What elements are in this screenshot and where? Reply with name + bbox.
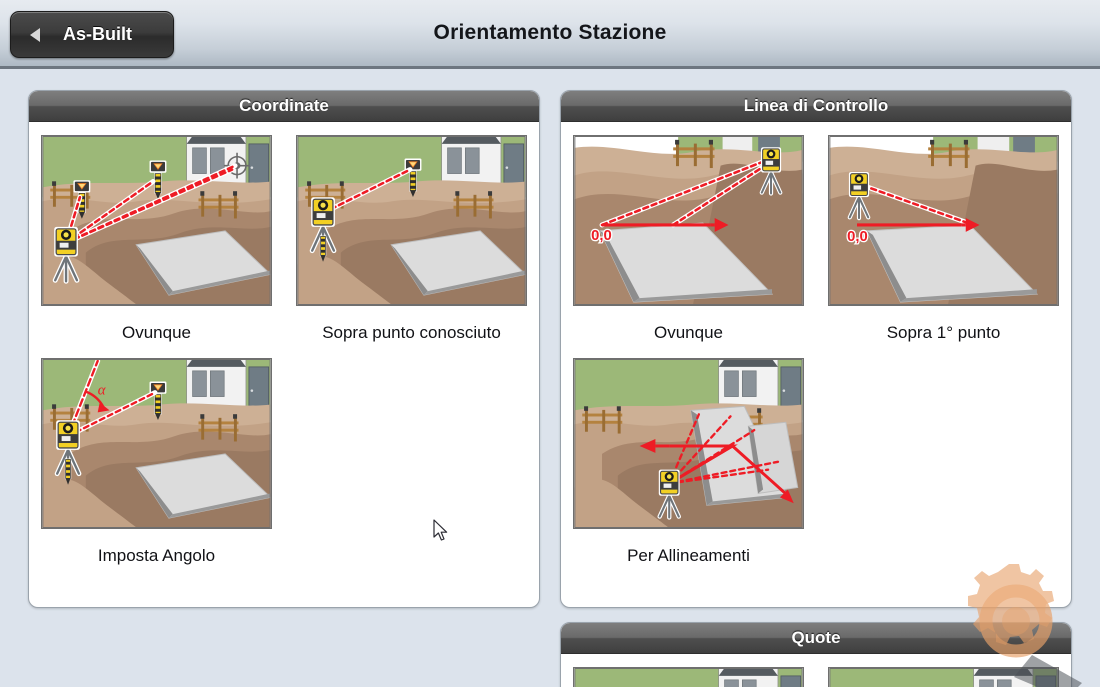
option-coordinate-imposta-angolo[interactable]: α — [29, 355, 284, 578]
option-label: Imposta Angolo — [29, 546, 284, 566]
option-linea-ovunque[interactable]: 0,0 Ovunque — [561, 132, 816, 355]
panel-linea-body: 0,0 Ovunque — [561, 122, 1071, 578]
panel-coordinate: Coordinate — [28, 90, 540, 608]
panel-quote-body — [561, 654, 1071, 687]
option-label: Sopra 1° punto — [816, 323, 1071, 343]
option-coordinate-sopra-punto-conosciuto[interactable]: Sopra punto conosciuto — [284, 132, 539, 355]
option-linea-sopra-primo-punto[interactable]: 0,0 Sopra 1° punto — [816, 132, 1071, 355]
thumbnail-control-line-alignments[interactable] — [573, 358, 804, 529]
back-button-label: As-Built — [40, 24, 155, 45]
panel-quote-title: Quote — [561, 623, 1071, 654]
option-quote-second[interactable] — [816, 664, 1071, 687]
option-label: Ovunque — [29, 323, 284, 343]
thumbnail-control-line-over-first-point[interactable]: 0,0 — [828, 135, 1059, 306]
empty-cell — [284, 355, 539, 578]
thumbnail-station-set-angle[interactable]: α — [41, 358, 272, 529]
thumbnail-quote-second[interactable] — [828, 667, 1059, 687]
option-label: Sopra punto conosciuto — [284, 323, 539, 343]
thumbnail-station-free-multi-prism[interactable] — [41, 135, 272, 306]
panel-quote: Quote — [560, 622, 1072, 687]
panel-coordinate-title: Coordinate — [29, 91, 539, 122]
angle-label: α — [98, 383, 107, 399]
panel-coordinate-body: Ovunque — [29, 122, 539, 578]
panel-linea-title: Linea di Controllo — [561, 91, 1071, 122]
option-label: Per Allineamenti — [561, 546, 816, 566]
back-button[interactable]: As-Built — [10, 11, 174, 58]
thumbnail-quote-first[interactable] — [573, 667, 804, 687]
option-label: Ovunque — [561, 323, 816, 343]
option-quote-first[interactable] — [561, 664, 816, 687]
origin-label: 0,0 — [847, 229, 868, 245]
panel-linea-di-controllo: Linea di Controllo — [560, 90, 1072, 608]
left-triangle-icon — [30, 28, 40, 42]
option-coordinate-ovunque[interactable]: Ovunque — [29, 132, 284, 355]
origin-label: 0,0 — [591, 228, 612, 244]
empty-cell — [816, 355, 1071, 578]
app-header: Orientamento Stazione As-Built — [0, 0, 1100, 69]
option-linea-per-allineamenti[interactable]: Per Allineamenti — [561, 355, 816, 578]
thumbnail-station-over-known-point[interactable] — [296, 135, 527, 306]
thumbnail-control-line-free[interactable]: 0,0 — [573, 135, 804, 306]
